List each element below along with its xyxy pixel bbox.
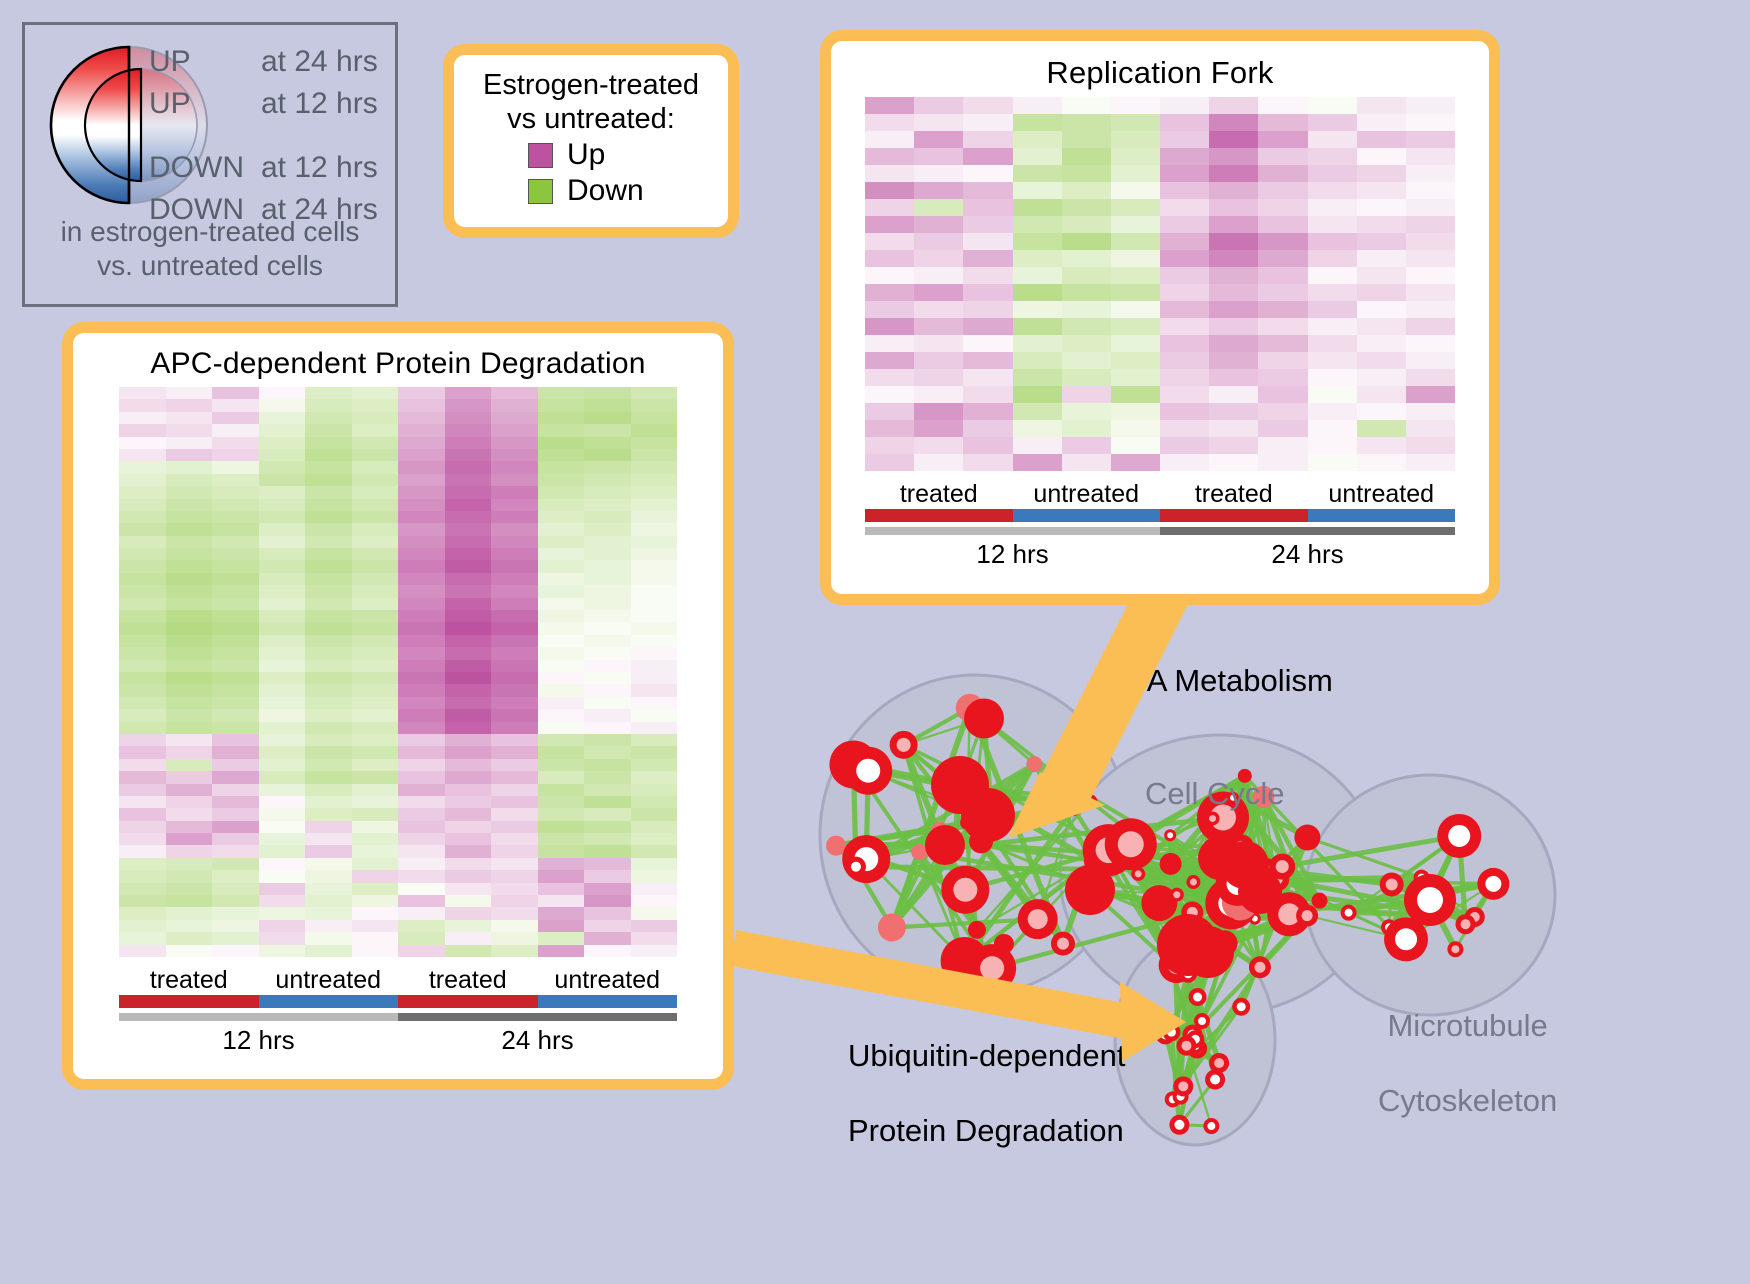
bar-segment bbox=[865, 509, 1013, 522]
heatmap-cell bbox=[445, 722, 492, 734]
heatmap-cell bbox=[119, 697, 166, 709]
heatmap-cell bbox=[1258, 114, 1307, 131]
heatmap-cell bbox=[1160, 114, 1209, 131]
down-label: Down bbox=[567, 174, 644, 208]
heatmap-cell bbox=[1357, 97, 1406, 114]
heatmap-cell bbox=[631, 424, 678, 436]
heatmap-cell bbox=[212, 499, 259, 511]
heatmap-cell bbox=[398, 548, 445, 560]
heatmap-cell bbox=[166, 585, 213, 597]
network-node[interactable] bbox=[911, 844, 927, 860]
heatmap-cell bbox=[305, 548, 352, 560]
heatmap-cell bbox=[1209, 148, 1258, 165]
heatmap-cell bbox=[538, 684, 585, 696]
heatmap-cell bbox=[1357, 182, 1406, 199]
heatmap-cell bbox=[259, 821, 306, 833]
heatmap-cell bbox=[865, 199, 914, 216]
heatmap-cell bbox=[631, 573, 678, 585]
network-node-center bbox=[1302, 910, 1313, 921]
heatmap-cell bbox=[914, 352, 963, 369]
heatmap-cell bbox=[538, 796, 585, 808]
network-node-center bbox=[1069, 804, 1077, 812]
heatmap-cell bbox=[445, 399, 492, 411]
heatmap-cell bbox=[166, 511, 213, 523]
heatmap-cell bbox=[538, 437, 585, 449]
heatmap-cell bbox=[305, 672, 352, 684]
heatmap-cell bbox=[119, 684, 166, 696]
heatmap-cell bbox=[1357, 165, 1406, 182]
heatmap-cell bbox=[1013, 335, 1062, 352]
network-node[interactable] bbox=[964, 699, 1004, 739]
heatmap-cell bbox=[865, 233, 914, 250]
heatmap-cell bbox=[1406, 420, 1455, 437]
heatmap-cell bbox=[259, 449, 306, 461]
heatmap-cell bbox=[166, 598, 213, 610]
heatmap-cell bbox=[166, 734, 213, 746]
heatmap-cell bbox=[166, 771, 213, 783]
heatmap-cell bbox=[1111, 352, 1160, 369]
heatmap-cell bbox=[305, 883, 352, 895]
up-label: Up bbox=[567, 138, 605, 172]
network-node[interactable] bbox=[925, 825, 965, 865]
heatmap-cell bbox=[1258, 165, 1307, 182]
heatmap-cell bbox=[1013, 165, 1062, 182]
network-node[interactable] bbox=[1238, 870, 1282, 914]
legend-direction: UP bbox=[149, 45, 261, 79]
condition-labels: treated untreated treated untreated bbox=[119, 966, 677, 995]
heatmap-cell bbox=[631, 461, 678, 473]
heatmap-cell bbox=[398, 833, 445, 845]
heatmap-cell bbox=[305, 560, 352, 572]
heatmap-cell bbox=[445, 672, 492, 684]
heatmap-cell bbox=[963, 301, 1012, 318]
legend-time: at 12 hrs bbox=[261, 87, 378, 121]
heatmap-cell bbox=[119, 486, 166, 498]
heatmap-cell bbox=[398, 412, 445, 424]
heatmap-cell bbox=[865, 182, 914, 199]
heatmap-cell bbox=[491, 684, 538, 696]
heatmap-cell bbox=[1357, 216, 1406, 233]
heatmap-cell bbox=[445, 895, 492, 907]
heatmap-cell bbox=[1111, 250, 1160, 267]
cluster-label-dna-metabolism: DNA Metabolism bbox=[1102, 662, 1333, 699]
heatmap-cell bbox=[166, 560, 213, 572]
heatmap-cell bbox=[212, 771, 259, 783]
heatmap-cell bbox=[398, 858, 445, 870]
heatmap-cell bbox=[538, 932, 585, 944]
heatmap-cell bbox=[1258, 199, 1307, 216]
heatmap-cell bbox=[1258, 386, 1307, 403]
heatmap-cell bbox=[1111, 216, 1160, 233]
condition-label: treated bbox=[119, 966, 259, 995]
heatmap-cell bbox=[1406, 352, 1455, 369]
heatmap-cell bbox=[1160, 318, 1209, 335]
heatmap-cell bbox=[1209, 403, 1258, 420]
heatmap-cell bbox=[1111, 148, 1160, 165]
heatmap-cell bbox=[119, 412, 166, 424]
heatmap-cell bbox=[584, 585, 631, 597]
panel-title: Replication Fork bbox=[831, 41, 1489, 91]
heatmap-cell bbox=[259, 399, 306, 411]
heatmap-cell bbox=[212, 709, 259, 721]
network-node-center bbox=[851, 862, 861, 872]
heatmap-cell bbox=[631, 412, 678, 424]
heatmap-cell bbox=[305, 722, 352, 734]
heatmap-cell bbox=[1160, 454, 1209, 471]
network-node-center bbox=[1135, 870, 1142, 877]
heatmap-cell bbox=[166, 672, 213, 684]
heatmap-cell bbox=[1308, 437, 1357, 454]
panel-title: APC-dependent Protein Degradation bbox=[73, 333, 723, 381]
heatmap-cell bbox=[914, 199, 963, 216]
heatmap-cell bbox=[352, 907, 399, 919]
heatmap-cell bbox=[398, 697, 445, 709]
heatmap-cell bbox=[1308, 199, 1357, 216]
heatmap-cell bbox=[352, 920, 399, 932]
condition-color-bar bbox=[865, 509, 1455, 522]
heatmap-cell bbox=[119, 536, 166, 548]
heatmap-cell bbox=[963, 284, 1012, 301]
network-node[interactable] bbox=[1083, 794, 1097, 808]
heatmap-cell bbox=[259, 907, 306, 919]
heatmap-cell bbox=[1111, 165, 1160, 182]
network-node-center bbox=[1198, 1017, 1206, 1025]
heatmap-cell bbox=[259, 548, 306, 560]
heatmap-cell bbox=[119, 883, 166, 895]
up-color-swatch bbox=[528, 143, 553, 168]
heatmap-cell bbox=[1013, 454, 1062, 471]
heatmap-cell bbox=[166, 523, 213, 535]
network-node[interactable] bbox=[994, 934, 1014, 954]
heatmap-cell bbox=[584, 672, 631, 684]
heatmap-cell bbox=[538, 610, 585, 622]
heatmap-cell bbox=[538, 622, 585, 634]
heatmap-cell bbox=[119, 746, 166, 758]
heatmap-cell bbox=[212, 598, 259, 610]
network-node-center bbox=[1190, 879, 1197, 886]
heatmap-cell bbox=[1111, 182, 1160, 199]
heatmap-cell bbox=[631, 746, 678, 758]
heatmap-cell bbox=[352, 387, 399, 399]
heatmap-cell bbox=[584, 759, 631, 771]
heatmap-cell bbox=[445, 808, 492, 820]
heatmap-cell bbox=[212, 635, 259, 647]
heatmap-cell bbox=[398, 660, 445, 672]
heatmap-cell bbox=[398, 585, 445, 597]
heatmap-cell bbox=[1013, 437, 1062, 454]
up-down-legend-card: Estrogen-treated vs untreated: Up Down bbox=[443, 44, 739, 238]
heatmap-cell bbox=[1062, 454, 1111, 471]
heatmap-cell bbox=[305, 635, 352, 647]
heatmap-cell bbox=[1160, 216, 1209, 233]
bar-segment bbox=[1013, 509, 1161, 522]
heatmap-cell bbox=[538, 907, 585, 919]
heatmap-cell bbox=[1357, 148, 1406, 165]
heatmap-cell bbox=[352, 697, 399, 709]
heatmap-cell bbox=[1013, 216, 1062, 233]
heatmap-cell bbox=[352, 548, 399, 560]
heatmap-cell bbox=[352, 536, 399, 548]
heatmap-cell bbox=[445, 796, 492, 808]
heatmap-cell bbox=[1062, 267, 1111, 284]
heatmap-cell bbox=[305, 808, 352, 820]
heatmap-cell bbox=[305, 461, 352, 473]
heatmap-cell bbox=[305, 759, 352, 771]
heatmap-cell bbox=[914, 284, 963, 301]
heatmap-cell bbox=[166, 833, 213, 845]
heatmap-cell bbox=[1406, 301, 1455, 318]
heatmap-cell bbox=[1160, 131, 1209, 148]
heatmap-cell bbox=[1406, 403, 1455, 420]
timepoint-label: 24 hrs bbox=[398, 1021, 677, 1056]
heatmap-cell bbox=[865, 335, 914, 352]
network-node-center bbox=[1417, 887, 1443, 913]
heatmap-cell bbox=[1308, 148, 1357, 165]
color-scale-legend: UP at 24 hrs UP at 12 hrs DOWN at 12 hrs… bbox=[22, 22, 398, 307]
heatmap-cell bbox=[631, 759, 678, 771]
heatmap-cell bbox=[1406, 386, 1455, 403]
heatmap-cell bbox=[1013, 403, 1062, 420]
heatmap-cell bbox=[166, 573, 213, 585]
heatmap-cell bbox=[491, 585, 538, 597]
heatmap-cell bbox=[491, 945, 538, 957]
heatmap-cell bbox=[305, 746, 352, 758]
heatmap-cell bbox=[584, 461, 631, 473]
heatmap-cell bbox=[119, 660, 166, 672]
heatmap-cell bbox=[1357, 403, 1406, 420]
heatmap-cell bbox=[1013, 386, 1062, 403]
network-node[interactable] bbox=[1065, 865, 1115, 915]
heatmap-cell bbox=[166, 808, 213, 820]
heatmap-cell bbox=[445, 759, 492, 771]
heatmap-cell bbox=[352, 622, 399, 634]
heatmap-cell bbox=[212, 697, 259, 709]
heatmap-cell bbox=[305, 845, 352, 857]
heatmap-cell bbox=[445, 437, 492, 449]
heatmap-cell bbox=[491, 672, 538, 684]
heatmap-cell bbox=[631, 672, 678, 684]
heatmap-cell bbox=[352, 808, 399, 820]
heatmap-cell bbox=[259, 573, 306, 585]
network-node[interactable] bbox=[1312, 893, 1328, 909]
heatmap-cell bbox=[305, 647, 352, 659]
heatmap-cell bbox=[398, 560, 445, 572]
heatmap-cell bbox=[865, 369, 914, 386]
heatmap-cell bbox=[445, 932, 492, 944]
heatmap-cell bbox=[398, 647, 445, 659]
heatmap-cell bbox=[305, 622, 352, 634]
heatmap-cell bbox=[305, 486, 352, 498]
heatmap-cell bbox=[352, 461, 399, 473]
heatmap-cell bbox=[212, 808, 259, 820]
heatmap-cell bbox=[538, 746, 585, 758]
heatmap-cell bbox=[963, 403, 1012, 420]
heatmap-cell bbox=[1209, 267, 1258, 284]
heatmap-cell bbox=[305, 511, 352, 523]
heatmap-cell bbox=[445, 771, 492, 783]
legend-time: at 24 hrs bbox=[261, 45, 378, 79]
heatmap-cell bbox=[914, 437, 963, 454]
network-node[interactable] bbox=[968, 921, 986, 939]
heatmap-cell bbox=[491, 622, 538, 634]
network-node[interactable] bbox=[878, 914, 906, 942]
heatmap-cell bbox=[1258, 403, 1307, 420]
heatmap-cell bbox=[631, 907, 678, 919]
heatmap-cell bbox=[398, 746, 445, 758]
heatmap-cell bbox=[259, 697, 306, 709]
heatmap-cell bbox=[1308, 114, 1357, 131]
heatmap-cell bbox=[212, 560, 259, 572]
heatmap-cell bbox=[352, 771, 399, 783]
heatmap-cell bbox=[352, 734, 399, 746]
heatmap-cell bbox=[212, 870, 259, 882]
network-node-center bbox=[1207, 1122, 1215, 1130]
network-node[interactable] bbox=[1294, 825, 1320, 851]
heatmap-cell bbox=[352, 610, 399, 622]
bar-segment bbox=[398, 1013, 677, 1021]
heatmap-cell bbox=[963, 437, 1012, 454]
heatmap-cell bbox=[119, 759, 166, 771]
heatmap-cell bbox=[445, 585, 492, 597]
heatmap-cell bbox=[1258, 267, 1307, 284]
heatmap-cell bbox=[1013, 97, 1062, 114]
heatmap-cell bbox=[1111, 420, 1160, 437]
condition-label: treated bbox=[865, 480, 1013, 509]
heatmap-cell bbox=[914, 403, 963, 420]
heatmap-cell bbox=[1062, 352, 1111, 369]
heatmap-cell bbox=[445, 697, 492, 709]
heatmap-cell bbox=[538, 697, 585, 709]
heatmap-cell bbox=[631, 585, 678, 597]
heatmap-cell bbox=[166, 499, 213, 511]
condition-label: untreated bbox=[1013, 480, 1161, 509]
heatmap-cell bbox=[119, 808, 166, 820]
heatmap-cell bbox=[584, 560, 631, 572]
heatmap-cell bbox=[259, 932, 306, 944]
network-node[interactable] bbox=[1182, 926, 1234, 978]
network-node[interactable] bbox=[961, 788, 1015, 842]
heatmap-cell bbox=[305, 424, 352, 436]
heatmap-cell bbox=[538, 821, 585, 833]
heatmap-cell bbox=[445, 560, 492, 572]
legend-item-up: Up bbox=[528, 138, 728, 172]
heatmap-cell bbox=[305, 870, 352, 882]
network-node-center bbox=[980, 956, 1004, 980]
heatmap-cell bbox=[1209, 199, 1258, 216]
heatmap-cell bbox=[305, 585, 352, 597]
heatmap-cell bbox=[119, 907, 166, 919]
heatmap-cell bbox=[352, 672, 399, 684]
heatmap-cell bbox=[584, 511, 631, 523]
network-node[interactable] bbox=[1026, 756, 1042, 772]
heatmap-cell bbox=[166, 548, 213, 560]
heatmap-cell bbox=[914, 148, 963, 165]
heatmap-cell bbox=[538, 536, 585, 548]
heatmap-cell bbox=[212, 548, 259, 560]
heatmap-cell bbox=[631, 895, 678, 907]
heatmap-cell bbox=[963, 216, 1012, 233]
heatmap-cell bbox=[305, 660, 352, 672]
heatmap-cell bbox=[963, 97, 1012, 114]
heatmap-cell bbox=[584, 796, 631, 808]
heatmap-cell bbox=[1209, 369, 1258, 386]
heatmap-cell bbox=[1258, 216, 1307, 233]
heatmap-cell bbox=[305, 821, 352, 833]
heatmap-cell bbox=[1160, 182, 1209, 199]
heatmap-cell bbox=[305, 734, 352, 746]
heatmap-cell bbox=[491, 759, 538, 771]
heatmap-cell bbox=[1357, 131, 1406, 148]
heatmap-cell bbox=[491, 412, 538, 424]
heatmap-cell bbox=[166, 883, 213, 895]
heatmap-cell bbox=[584, 523, 631, 535]
heatmap-cell bbox=[1357, 233, 1406, 250]
heatmap-cell bbox=[352, 424, 399, 436]
heatmap-cell bbox=[865, 437, 914, 454]
network-node[interactable] bbox=[1224, 917, 1236, 929]
heatmap-cell bbox=[491, 920, 538, 932]
heatmap-cell bbox=[963, 369, 1012, 386]
heatmap-cell bbox=[1160, 335, 1209, 352]
heatmap-cell bbox=[1209, 284, 1258, 301]
heatmap-cell bbox=[584, 387, 631, 399]
legend-row: UP at 12 hrs bbox=[149, 87, 399, 129]
heatmap-cell bbox=[119, 523, 166, 535]
heatmap-cell bbox=[491, 598, 538, 610]
heatmap-cell bbox=[398, 870, 445, 882]
heatmap-cell bbox=[631, 449, 678, 461]
heatmap-cell bbox=[914, 454, 963, 471]
heatmap-cell bbox=[1209, 216, 1258, 233]
heatmap-cell bbox=[584, 746, 631, 758]
heatmap-cell bbox=[631, 387, 678, 399]
heatmap-cell bbox=[352, 660, 399, 672]
timepoint-label: 12 hrs bbox=[119, 1021, 398, 1056]
timepoint-color-bar bbox=[865, 527, 1455, 535]
heatmap-cell bbox=[491, 660, 538, 672]
heatmap-cell bbox=[259, 945, 306, 957]
heatmap-cell bbox=[1209, 301, 1258, 318]
network-node[interactable] bbox=[826, 836, 846, 856]
heatmap-cell bbox=[259, 635, 306, 647]
heatmap-cell bbox=[584, 660, 631, 672]
heatmap-cell bbox=[914, 165, 963, 182]
heatmap-cell bbox=[491, 548, 538, 560]
heatmap-cell bbox=[398, 536, 445, 548]
heatmap-cell bbox=[119, 610, 166, 622]
heatmap-cell bbox=[1013, 267, 1062, 284]
heatmap-cell bbox=[914, 233, 963, 250]
heatmap-cell bbox=[445, 499, 492, 511]
heatmap-cell bbox=[259, 536, 306, 548]
heatmap-cell bbox=[491, 560, 538, 572]
heatmap-cell bbox=[631, 598, 678, 610]
heatmap-cell bbox=[352, 474, 399, 486]
legend-title-line-2: vs untreated: bbox=[454, 103, 728, 137]
heatmap-cell bbox=[398, 784, 445, 796]
legend-time: at 12 hrs bbox=[261, 151, 378, 185]
heatmap-cell bbox=[538, 833, 585, 845]
heatmap-cell bbox=[865, 352, 914, 369]
timepoint-labels: 12 hrs 24 hrs bbox=[119, 1021, 677, 1056]
heatmap-cell bbox=[865, 97, 914, 114]
heatmap-cell bbox=[398, 821, 445, 833]
heatmap-cell bbox=[445, 709, 492, 721]
ubi-line-2: Protein Degradation bbox=[848, 1112, 1126, 1149]
heatmap-cell bbox=[631, 622, 678, 634]
heatmap-cell bbox=[1062, 335, 1111, 352]
network-node[interactable] bbox=[1160, 853, 1182, 875]
